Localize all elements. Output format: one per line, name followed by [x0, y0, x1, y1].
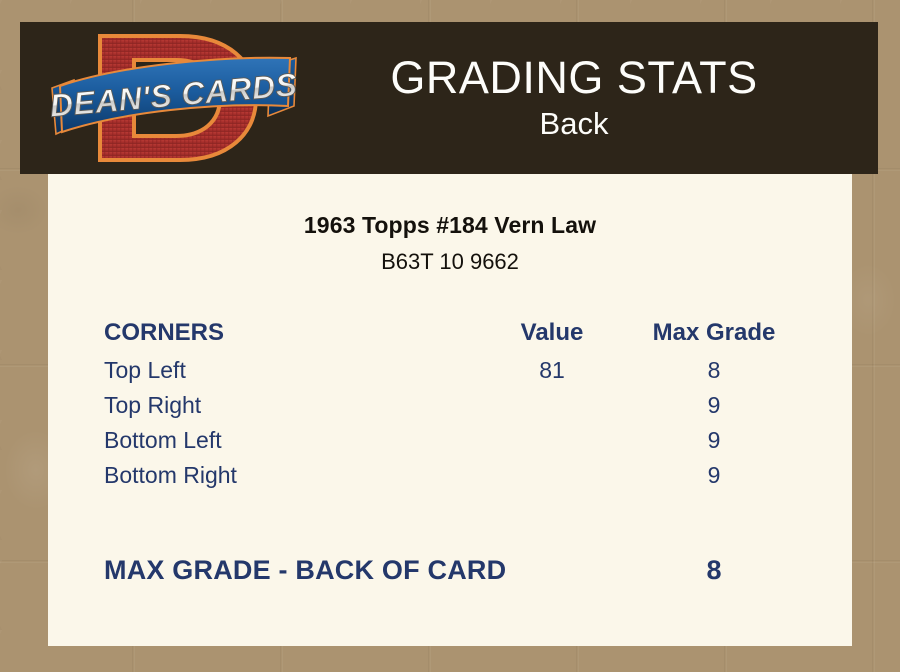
row-value: 81: [472, 353, 632, 388]
column-header-corners: CORNERS: [104, 319, 472, 353]
column-header-max-grade: Max Grade: [632, 319, 796, 353]
stats-panel: 1963 Topps #184 Vern Law B63T 10 9662 CO…: [48, 174, 852, 646]
row-label: Bottom Left: [104, 423, 472, 458]
row-value: [472, 458, 632, 493]
row-grade: 8: [632, 353, 796, 388]
card-title: 1963 Topps #184 Vern Law: [48, 212, 852, 239]
table-row: Bottom Left 9: [104, 423, 796, 458]
row-label: Top Left: [104, 353, 472, 388]
row-value: [472, 423, 632, 458]
column-header-value: Value: [472, 319, 632, 353]
grading-stats-table: CORNERS Value Max Grade Top Left 81 8 To…: [104, 319, 796, 493]
table-row: Top Right 9: [104, 388, 796, 423]
row-value: [472, 388, 632, 423]
table-header-row: CORNERS Value Max Grade: [104, 319, 796, 353]
table-row: Top Left 81 8: [104, 353, 796, 388]
header-bar: DEAN'S CARDS GRADING STATS Back: [20, 22, 878, 174]
row-label: Bottom Right: [104, 458, 472, 493]
page-title: GRADING STATS: [300, 52, 848, 104]
table-row: Bottom Right 9: [104, 458, 796, 493]
max-grade-value: 8: [632, 555, 796, 586]
row-grade: 9: [632, 458, 796, 493]
max-grade-summary: MAX GRADE - BACK OF CARD 8: [104, 555, 796, 586]
deans-cards-logo[interactable]: DEAN'S CARDS: [48, 28, 300, 168]
header-text-block: GRADING STATS Back: [300, 52, 878, 144]
row-grade: 9: [632, 423, 796, 458]
row-label: Top Right: [104, 388, 472, 423]
max-grade-label: MAX GRADE - BACK OF CARD: [104, 555, 632, 586]
deans-cards-logo-icon: DEAN'S CARDS: [48, 28, 300, 168]
row-grade: 9: [632, 388, 796, 423]
page-subtitle: Back: [300, 104, 848, 144]
card-code: B63T 10 9662: [48, 249, 852, 275]
